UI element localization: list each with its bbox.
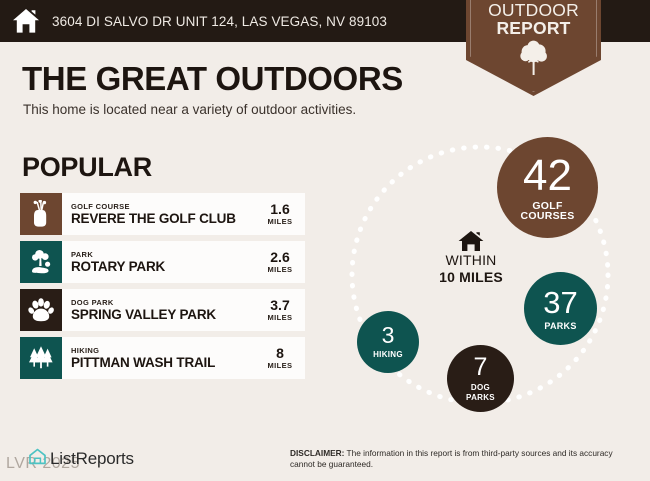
listreports-wordmark: ListReports [50,449,134,469]
bubble-dog-parks[interactable]: 7 DOG PARKS [447,345,514,412]
bubble-golf-courses[interactable]: 42 GOLF COURSES [497,137,598,238]
list-item-distance-block: 2.6 MILES [259,241,305,283]
list-item-name: SPRING VALLEY PARK [71,307,259,323]
list-item-name: ROTARY PARK [71,259,259,275]
park-tree-icon [20,241,62,283]
list-item-text: PARK ROTARY PARK [62,241,259,283]
list-item-name: PITTMAN WASH TRAIL [71,355,259,371]
list-item-unit: MILES [268,361,293,370]
golf-bag-icon [20,193,62,235]
bubble-value: 37 [543,287,577,318]
list-item-distance-block: 8 MILES [259,337,305,379]
disclaimer-label: DISCLAIMER: [290,448,344,458]
list-item[interactable]: PARK ROTARY PARK 2.6 MILES [20,241,305,283]
list-item-distance: 8 [276,346,284,361]
listreports-logo[interactable]: ListReports [28,447,134,471]
popular-list: GOLF COURSE REVERE THE GOLF CLUB 1.6 MIL… [20,193,305,385]
badge-title-line1: OUTDOOR [488,0,579,20]
page-title: THE GREAT OUTDOORS [22,60,403,98]
outdoor-report-badge: OUTDOOR REPORT [466,0,601,96]
list-item-distance: 2.6 [270,250,289,265]
home-icon [0,8,52,34]
property-address: 3604 DI SALVO DR UNIT 124, LAS VEGAS, NV… [52,14,387,29]
bubble-value: 3 [382,324,395,347]
chart-center-line2: 10 MILES [416,269,526,286]
badge-title: OUTDOOR REPORT [466,0,601,37]
list-item-unit: MILES [268,265,293,274]
paw-print-icon [20,289,62,331]
list-item-text: GOLF COURSE REVERE THE GOLF CLUB [62,193,259,235]
bubble-label: DOG PARKS [466,383,495,403]
badge-title-line2: REPORT [466,19,601,37]
list-item-name: REVERE THE GOLF CLUB [71,211,259,227]
bubble-label: PARKS [544,321,576,331]
chart-center-label: WITHIN 10 MILES [416,230,526,286]
list-item-unit: MILES [268,217,293,226]
disclaimer: DISCLAIMER: The information in this repo… [290,448,620,470]
bubble-value: 7 [474,355,488,380]
list-item[interactable]: HIKING PITTMAN WASH TRAIL 8 MILES [20,337,305,379]
list-item[interactable]: GOLF COURSE REVERE THE GOLF CLUB 1.6 MIL… [20,193,305,235]
bubble-label: HIKING [373,350,403,360]
list-item-text: DOG PARK SPRING VALLEY PARK [62,289,259,331]
bubble-parks[interactable]: 37 PARKS [524,272,597,345]
home-icon [416,230,526,252]
list-item-text: HIKING PITTMAN WASH TRAIL [62,337,259,379]
page-subtitle: This home is located near a variety of o… [23,102,356,117]
list-item-distance: 3.7 [270,298,289,313]
popular-section-title: POPULAR [22,152,152,183]
list-item-distance: 1.6 [270,202,289,217]
pine-trees-icon [20,337,62,379]
list-item[interactable]: DOG PARK SPRING VALLEY PARK 3.7 MILES [20,289,305,331]
list-item-category: PARK [71,250,259,259]
list-item-unit: MILES [268,313,293,322]
list-item-category: DOG PARK [71,298,259,307]
chart-center-line1: WITHIN [416,252,526,269]
bubble-value: 42 [523,154,572,198]
amenities-bubble-chart: 42 GOLF COURSES 37 PARKS 7 DOG PARKS 3 H… [340,125,640,420]
listreports-house-icon [28,447,47,471]
list-item-category: GOLF COURSE [71,202,259,211]
bubble-hiking[interactable]: 3 HIKING [357,311,419,373]
bubble-label: GOLF COURSES [520,201,574,221]
list-item-distance-block: 3.7 MILES [259,289,305,331]
list-item-distance-block: 1.6 MILES [259,193,305,235]
tree-icon [466,40,601,81]
list-item-category: HIKING [71,346,259,355]
